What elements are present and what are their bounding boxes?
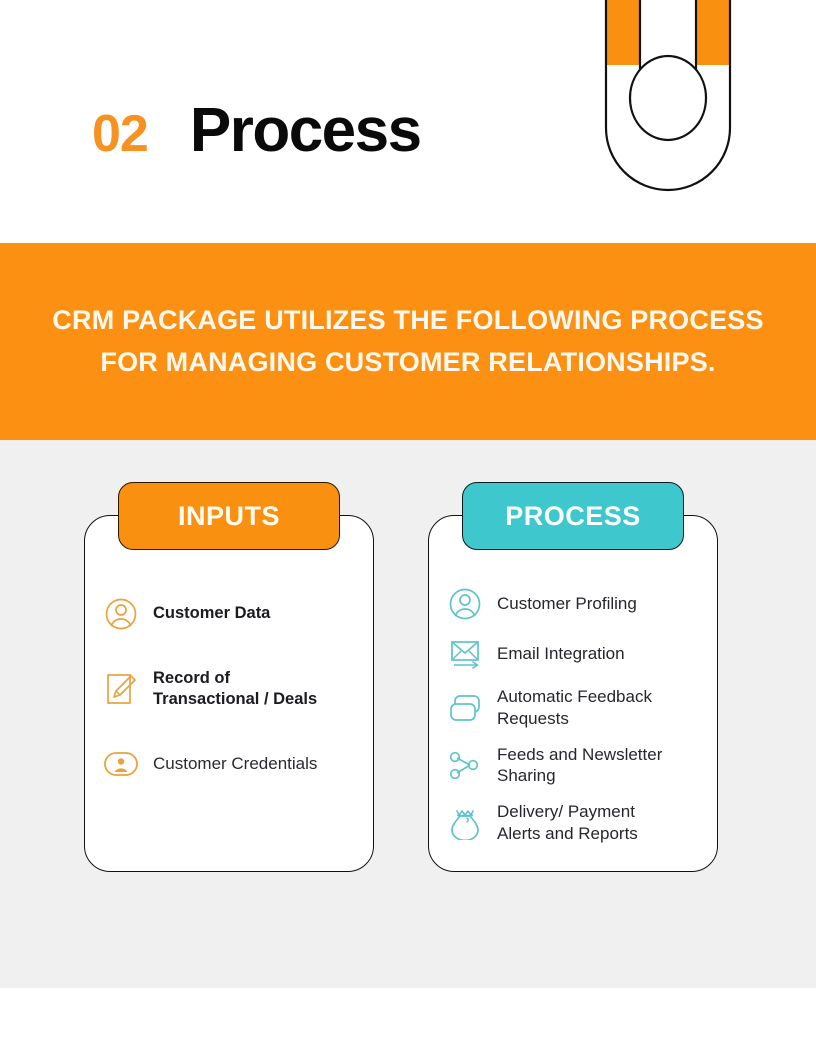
page-title: Process xyxy=(190,100,421,162)
chat-bubbles-icon xyxy=(447,690,483,726)
list-item-label: Record of Transactional / Deals xyxy=(153,668,317,710)
banner-line-2: FOR MANAGING CUSTOMER RELATIONSHIPS. xyxy=(100,342,715,384)
list-item[interactable]: Record of Transactional / Deals xyxy=(103,668,355,710)
list-item-label: Customer Profiling xyxy=(497,593,637,615)
list-item-label: Delivery/ Payment Alerts and Reports xyxy=(497,801,638,845)
money-bag-icon xyxy=(447,805,483,841)
page-footer xyxy=(0,988,816,1056)
list-item-label: Customer Credentials xyxy=(153,753,317,775)
list-item-label: Email Integration xyxy=(497,643,625,665)
user-circle-icon xyxy=(103,596,139,632)
page-header: 02 Process xyxy=(0,0,816,243)
list-item-label: Automatic Feedback Requests xyxy=(497,686,652,730)
card-header-label: INPUTS xyxy=(178,501,280,532)
list-item[interactable]: Delivery/ Payment Alerts and Reports xyxy=(447,801,699,845)
list-item[interactable]: Customer Credentials xyxy=(103,746,355,782)
list-item[interactable]: Customer Data xyxy=(103,596,355,632)
card-items-inputs: Customer Data Record of Transactional / … xyxy=(103,584,355,782)
id-badge-icon xyxy=(103,746,139,782)
section-number: 02 xyxy=(92,108,148,160)
banner: CRM PACKAGE UTILIZES THE FOLLOWING PROCE… xyxy=(0,243,816,440)
page-title-row: 02 Process xyxy=(92,100,421,162)
content-section: INPUTS Customer Data xyxy=(0,440,816,988)
card-items-process: Customer Profiling Email Integration xyxy=(447,584,699,845)
decorative-pill-graphic xyxy=(598,0,738,198)
card-process: PROCESS Customer Profiling xyxy=(428,515,718,872)
list-item[interactable]: Email Integration xyxy=(447,636,699,672)
document-pencil-icon xyxy=(103,671,139,707)
share-nodes-icon xyxy=(447,747,483,783)
card-inputs: INPUTS Customer Data xyxy=(84,515,374,872)
card-header-process[interactable]: PROCESS xyxy=(462,482,684,550)
list-item-label: Feeds and Newsletter Sharing xyxy=(497,744,662,788)
list-item[interactable]: Automatic Feedback Requests xyxy=(447,686,699,730)
cards-container: INPUTS Customer Data xyxy=(84,515,718,872)
user-circle-icon xyxy=(447,586,483,622)
envelope-arrow-icon xyxy=(447,636,483,672)
banner-line-1: CRM PACKAGE UTILIZES THE FOLLOWING PROCE… xyxy=(52,300,763,342)
list-item[interactable]: Customer Profiling xyxy=(447,586,699,622)
list-item[interactable]: Feeds and Newsletter Sharing xyxy=(447,744,699,788)
card-header-label: PROCESS xyxy=(505,501,641,532)
list-item-label: Customer Data xyxy=(153,603,270,624)
card-header-inputs[interactable]: INPUTS xyxy=(118,482,340,550)
